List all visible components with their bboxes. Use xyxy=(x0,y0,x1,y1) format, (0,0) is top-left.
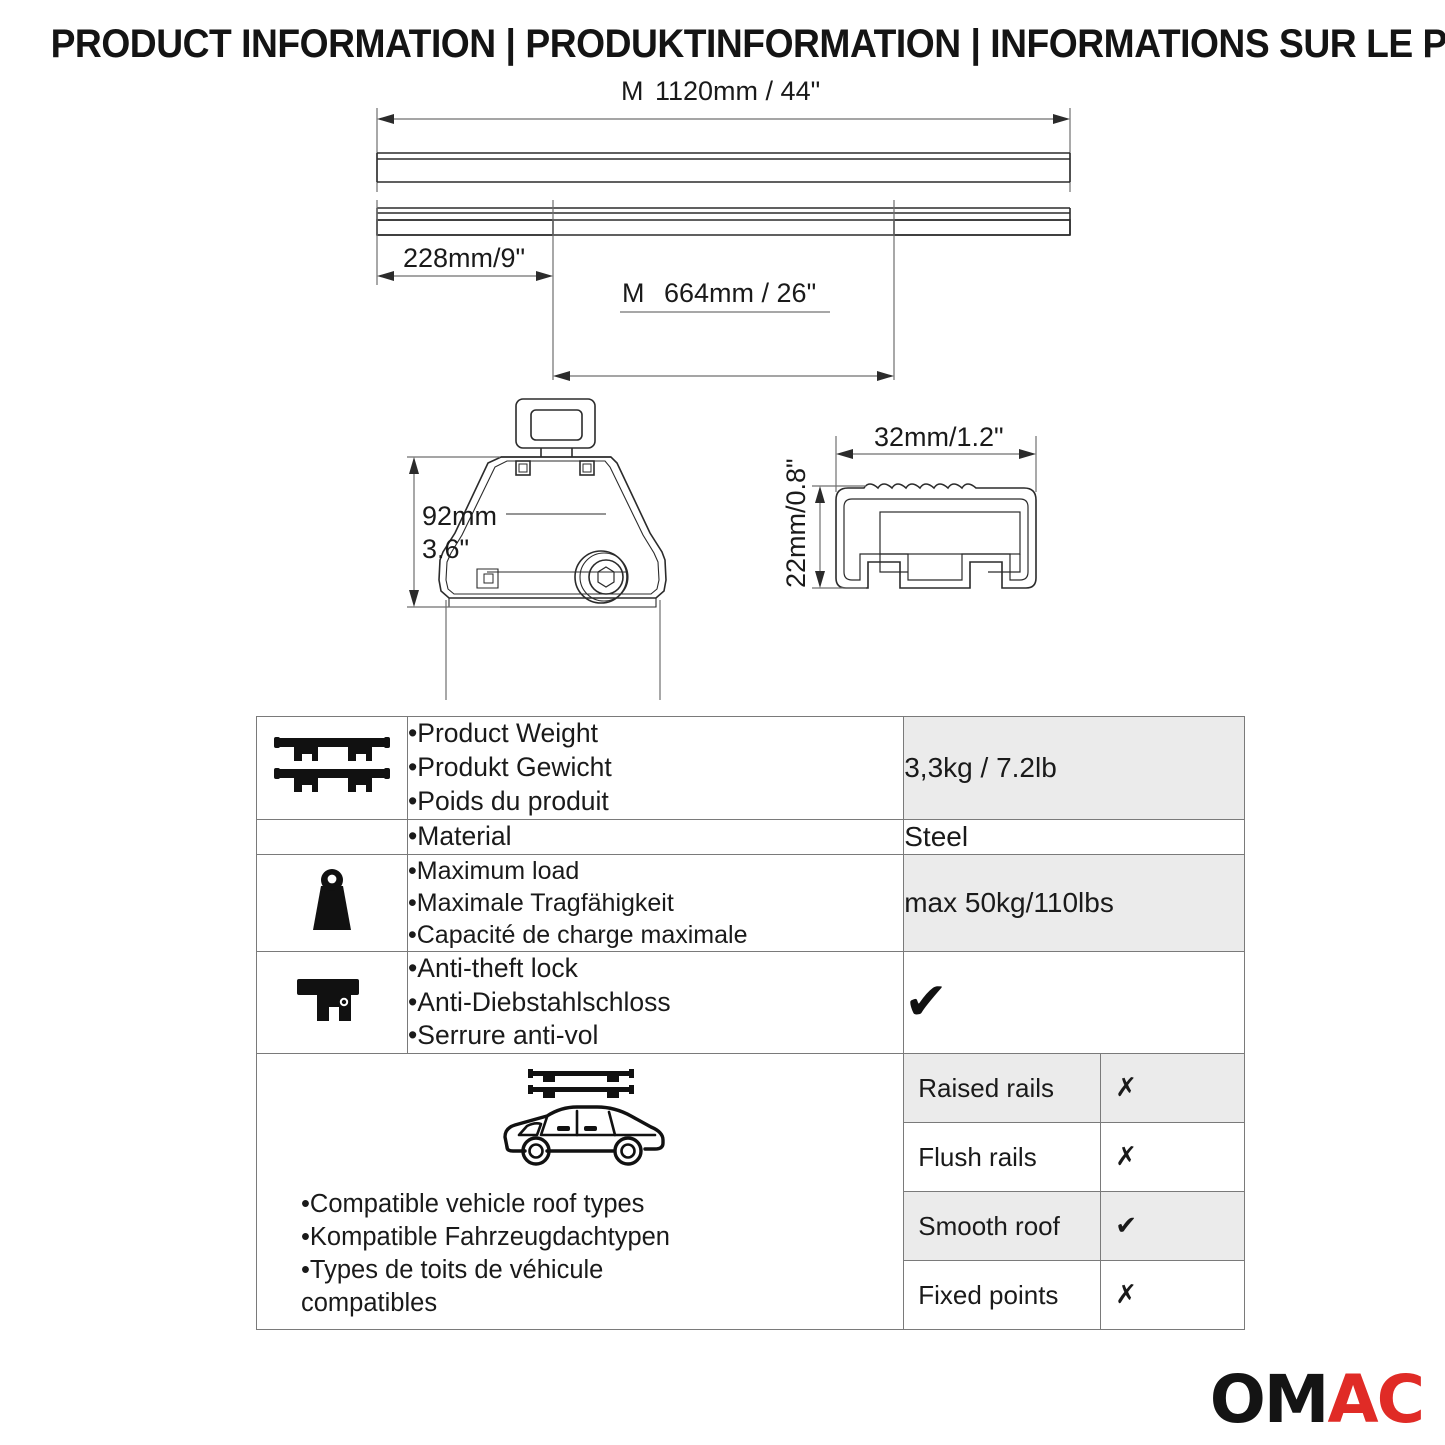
table-row: •Maximum load •Maximale Tragfähigkeit •C… xyxy=(257,854,1245,951)
cell-label-anti-theft: •Anti-theft lock •Anti-Diebstahlschloss … xyxy=(408,951,904,1054)
cell-value-product-weight: 3,3kg / 7.2lb xyxy=(904,717,1245,820)
logo-red-text: AC xyxy=(1327,1361,1423,1438)
dim-profile-width: 32mm/1.2" xyxy=(874,422,1004,452)
page-title: PRODUCT INFORMATION | PRODUKTINFORMATION… xyxy=(51,22,1395,67)
label-line: compatibles xyxy=(301,1287,903,1320)
dim-tower-height-mm: 92mm xyxy=(422,501,497,531)
lock-icon xyxy=(293,971,371,1029)
spec-table: •Product Weight •Produkt Gewicht •Poids … xyxy=(256,716,1245,1330)
cell-icon-weight xyxy=(257,854,408,951)
dim-tower-height-in: 3.6" xyxy=(422,534,469,564)
roof-type-row: Raised rails ✗ xyxy=(904,1054,1244,1123)
label-line: •Material xyxy=(408,820,903,854)
cell-icon-empty xyxy=(257,819,408,854)
weight-icon xyxy=(296,864,368,936)
roof-type-name: Raised rails xyxy=(904,1054,1101,1123)
cell-label-max-load: •Maximum load •Maximale Tragfähigkeit •C… xyxy=(408,854,904,951)
dim-foot-spacing-prefix: M xyxy=(622,278,645,308)
roof-type-row: Fixed points ✗ xyxy=(904,1261,1244,1330)
dim-bar-length-value: 1120mm / 44" xyxy=(655,80,820,106)
label-line: •Poids du produit xyxy=(408,785,903,819)
car-with-rack-icon xyxy=(485,1063,675,1175)
label-line: •Capacité de charge maximale xyxy=(408,919,903,951)
roof-type-name: Flush rails xyxy=(904,1123,1101,1192)
label-line: •Compatible vehicle roof types xyxy=(301,1188,903,1221)
cell-value-max-load: max 50kg/110lbs xyxy=(904,854,1245,951)
logo-black-text: OM xyxy=(1210,1361,1328,1438)
dim-bar-length-prefix: M xyxy=(621,80,644,106)
cell-label-material: •Material xyxy=(408,819,904,854)
omac-logo: OMAC xyxy=(1210,1367,1423,1433)
roof-type-status: ✗ xyxy=(1101,1261,1244,1330)
cell-compat-vehicle: •Compatible vehicle roof types •Kompatib… xyxy=(257,1054,904,1330)
dim-foot-spacing-value: 664mm / 26" xyxy=(664,278,816,308)
cell-value-material: Steel xyxy=(904,819,1245,854)
label-line: •Serrure anti-vol xyxy=(408,1019,903,1053)
table-row: •Anti-theft lock •Anti-Diebstahlschloss … xyxy=(257,951,1245,1054)
roof-types-table: Raised rails ✗ Flush rails ✗ Smooth roof… xyxy=(904,1054,1244,1329)
roof-type-status: ✗ xyxy=(1101,1054,1244,1123)
cell-label-product-weight: •Product Weight •Produkt Gewicht •Poids … xyxy=(408,717,904,820)
roof-type-row: Smooth roof ✔ xyxy=(904,1192,1244,1261)
roof-type-name: Smooth roof xyxy=(904,1192,1101,1261)
label-line: •Types de toits de véhicule xyxy=(301,1254,903,1287)
roof-type-status: ✔ xyxy=(1101,1192,1244,1261)
dim-profile-height: 22mm/0.8" xyxy=(781,458,811,588)
crossbars-icon xyxy=(272,734,392,796)
compat-label-block: •Compatible vehicle roof types •Kompatib… xyxy=(257,1188,903,1321)
table-row-compat: •Compatible vehicle roof types •Kompatib… xyxy=(257,1054,1245,1330)
roof-type-row: Flush rails ✗ xyxy=(904,1123,1244,1192)
label-line: •Maximale Tragfähigkeit xyxy=(408,887,903,919)
dim-foot-offset: 228mm/9" xyxy=(403,243,525,273)
label-line: •Kompatible Fahrzeugdachtypen xyxy=(301,1221,903,1254)
cell-icon-lock xyxy=(257,951,408,1054)
technical-drawing: M 1120mm / 44" 228mm/9" M 664mm / 26" 92… xyxy=(0,80,1445,700)
compat-icon-wrap xyxy=(257,1063,903,1180)
label-line: •Maximum load xyxy=(408,855,903,887)
label-line: •Anti-Diebstahlschloss xyxy=(408,986,903,1020)
table-row: •Material Steel xyxy=(257,819,1245,854)
table-row: •Product Weight •Produkt Gewicht •Poids … xyxy=(257,717,1245,820)
cell-roof-types: Raised rails ✗ Flush rails ✗ Smooth roof… xyxy=(904,1054,1245,1330)
cell-icon-crossbars xyxy=(257,717,408,820)
label-line: •Product Weight xyxy=(408,717,903,751)
label-line: •Produkt Gewicht xyxy=(408,751,903,785)
label-line: •Anti-theft lock xyxy=(408,952,903,986)
roof-type-status: ✗ xyxy=(1101,1123,1244,1192)
roof-type-name: Fixed points xyxy=(904,1261,1101,1330)
status-anti-theft: ✔ xyxy=(904,951,1245,1054)
